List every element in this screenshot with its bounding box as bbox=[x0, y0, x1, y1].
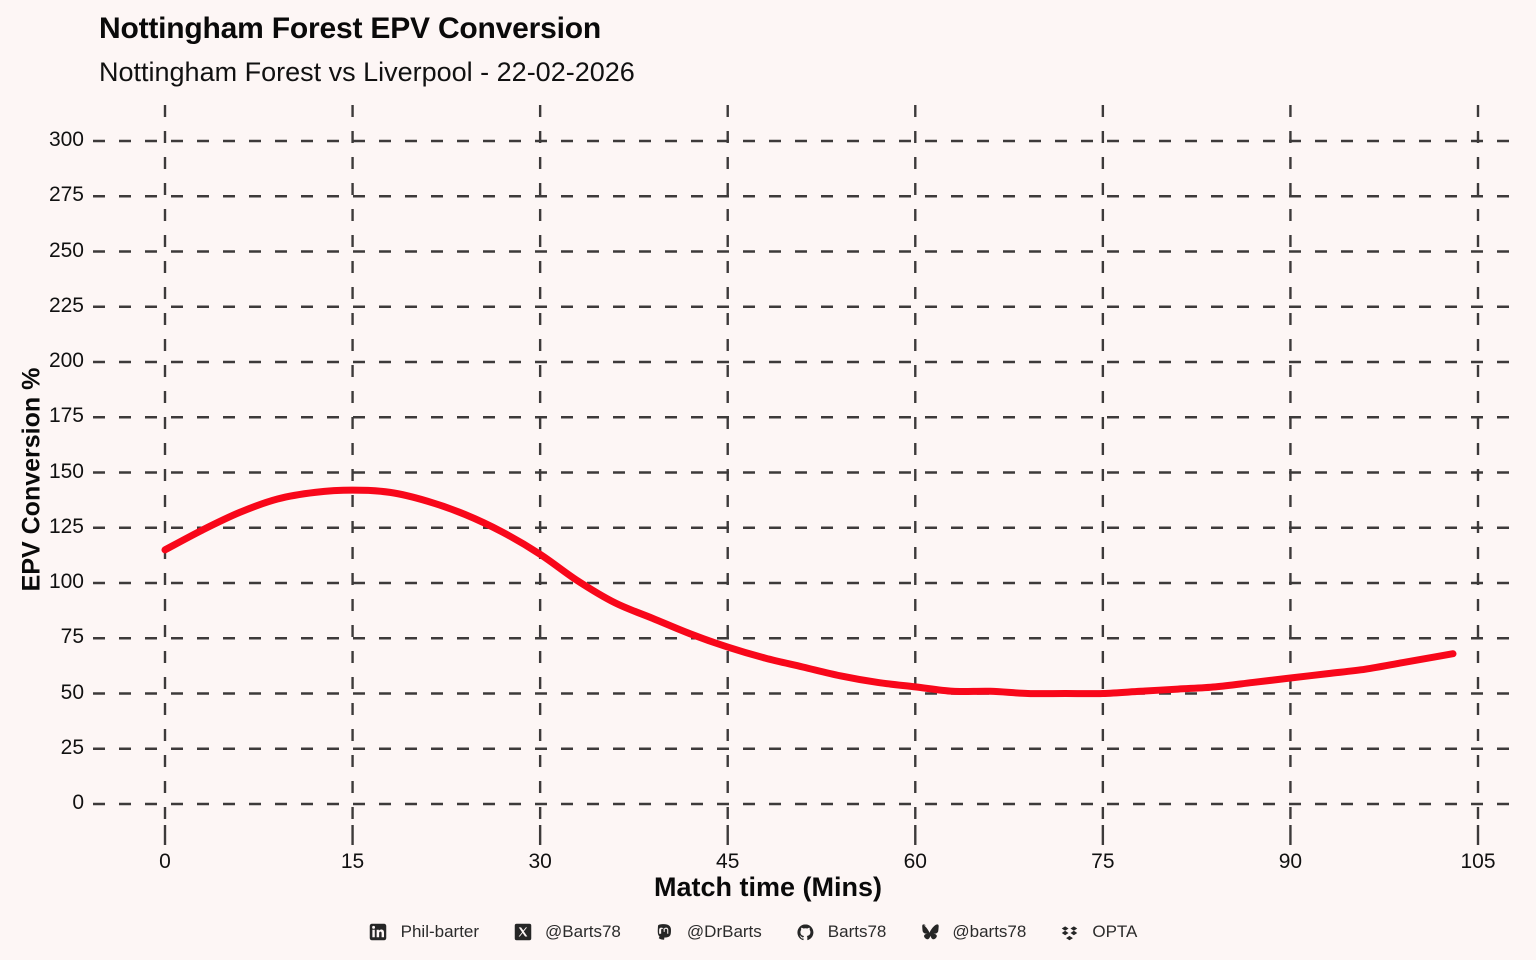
chart-page: Nottingham Forest EPV Conversion Notting… bbox=[0, 0, 1536, 960]
gridlines bbox=[93, 105, 1520, 822]
x-tick-label: 75 bbox=[1063, 850, 1143, 874]
epv-conversion-line bbox=[165, 490, 1453, 693]
x-axis-title: Match time (Mins) bbox=[0, 872, 1536, 903]
x-tick-label: 15 bbox=[313, 850, 393, 874]
axis-ticks bbox=[165, 825, 1478, 845]
x-tick-label: 30 bbox=[500, 850, 580, 874]
chart-canvas bbox=[0, 0, 1536, 960]
y-tick-label: 250 bbox=[22, 239, 84, 263]
y-tick-label: 75 bbox=[22, 625, 84, 649]
y-tick-label: 50 bbox=[22, 681, 84, 705]
credit-opta-label: OPTA bbox=[1092, 922, 1137, 942]
credit-bluesky-label: @barts78 bbox=[952, 922, 1026, 942]
x-twitter-icon bbox=[513, 923, 532, 942]
y-axis-title: EPV Conversion % bbox=[18, 350, 47, 610]
y-tick-label: 300 bbox=[22, 128, 84, 152]
credit-bluesky[interactable]: @barts78 bbox=[920, 922, 1026, 942]
bluesky-butterfly-icon bbox=[920, 923, 939, 942]
mastodon-icon bbox=[655, 923, 674, 942]
x-tick-label: 0 bbox=[125, 850, 205, 874]
credits-footer: Phil-barter @Barts78 @DrBarts Barts78 @b bbox=[0, 922, 1536, 942]
credit-linkedin-label: Phil-barter bbox=[401, 922, 479, 942]
x-tick-label: 60 bbox=[875, 850, 955, 874]
x-tick-label: 90 bbox=[1250, 850, 1330, 874]
y-tick-label: 0 bbox=[22, 791, 84, 815]
y-tick-label: 25 bbox=[22, 736, 84, 760]
x-tick-label: 105 bbox=[1438, 850, 1518, 874]
y-tick-label: 225 bbox=[22, 294, 84, 318]
credit-mastodon[interactable]: @DrBarts bbox=[655, 922, 762, 942]
credit-x-twitter[interactable]: @Barts78 bbox=[513, 922, 621, 942]
github-icon bbox=[796, 923, 815, 942]
credit-linkedin[interactable]: Phil-barter bbox=[369, 922, 479, 942]
credit-x-twitter-label: @Barts78 bbox=[545, 922, 621, 942]
y-tick-label: 275 bbox=[22, 183, 84, 207]
linkedin-icon bbox=[369, 923, 388, 942]
credit-github[interactable]: Barts78 bbox=[796, 922, 887, 942]
x-tick-label: 45 bbox=[688, 850, 768, 874]
credit-mastodon-label: @DrBarts bbox=[687, 922, 762, 942]
opta-icon bbox=[1060, 923, 1079, 942]
credit-github-label: Barts78 bbox=[828, 922, 887, 942]
credit-opta[interactable]: OPTA bbox=[1060, 922, 1137, 942]
